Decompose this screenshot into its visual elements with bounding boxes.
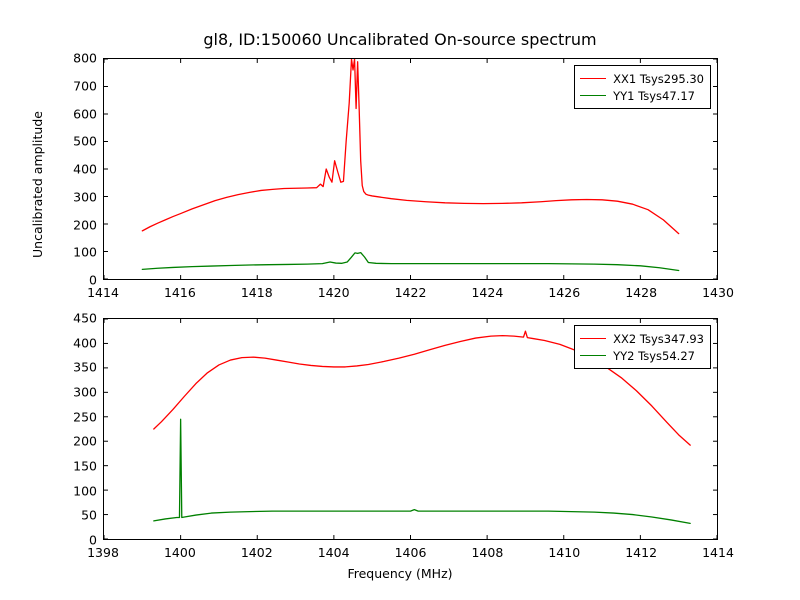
y-tick-label: 500 — [41, 134, 97, 149]
y-tick-label: 300 — [41, 385, 97, 400]
x-tick-label: 1408 — [471, 545, 503, 560]
data-series-line — [154, 419, 690, 523]
x-tick-label: 1420 — [318, 285, 350, 300]
x-tick-label: 1404 — [318, 545, 350, 560]
x-tick-label: 1424 — [471, 285, 503, 300]
bottom-panel-axes: XX2 Tsys347.93 YY2 Tsys54.27 — [103, 318, 718, 540]
x-tick-label: 1428 — [625, 285, 657, 300]
x-tick-label: 1418 — [241, 285, 273, 300]
data-series-line — [142, 253, 678, 271]
legend-swatch-yy2 — [580, 355, 606, 356]
y-tick-label: 400 — [41, 335, 97, 350]
legend-swatch-xx1 — [580, 78, 606, 79]
y-tick-label: 700 — [41, 78, 97, 93]
x-tick-label: 1412 — [625, 545, 657, 560]
x-tick-label: 1400 — [164, 545, 196, 560]
y-tick-label: 250 — [41, 409, 97, 424]
y-tick-label: 150 — [41, 459, 97, 474]
x-tick-label: 1402 — [241, 545, 273, 560]
x-tick-label: 1406 — [395, 545, 427, 560]
legend-item-xx1: XX1 Tsys295.30 — [580, 70, 704, 87]
figure-canvas: gl8, ID:150060 Uncalibrated On-source sp… — [0, 0, 800, 600]
y-tick-label: 450 — [41, 311, 97, 326]
x-axis-label-bottom: Frequency (MHz) — [0, 566, 800, 581]
y-tick-label: 800 — [41, 51, 97, 66]
legend-bottom: XX2 Tsys347.93 YY2 Tsys54.27 — [574, 325, 711, 369]
x-tick-label: 1414 — [702, 545, 734, 560]
y-tick-label: 50 — [41, 508, 97, 523]
top-panel-axes: XX1 Tsys295.30 YY1 Tsys47.17 — [103, 58, 718, 280]
x-tick-label: 1430 — [702, 285, 734, 300]
y-tick-label: 400 — [41, 162, 97, 177]
page-title: gl8, ID:150060 Uncalibrated On-source sp… — [0, 30, 800, 49]
y-tick-label: 300 — [41, 189, 97, 204]
legend-item-xx2: XX2 Tsys347.93 — [580, 330, 704, 347]
legend-label-yy2: YY2 Tsys54.27 — [613, 349, 695, 363]
y-tick-label: 600 — [41, 106, 97, 121]
legend-label-yy1: YY1 Tsys47.17 — [613, 89, 695, 103]
x-tick-label: 1410 — [548, 545, 580, 560]
legend-top: XX1 Tsys295.30 YY1 Tsys47.17 — [574, 65, 711, 109]
x-tick-label: 1422 — [395, 285, 427, 300]
x-tick-label: 1414 — [87, 285, 119, 300]
legend-swatch-yy1 — [580, 95, 606, 96]
x-tick-label: 1426 — [548, 285, 580, 300]
y-tick-label: 200 — [41, 217, 97, 232]
legend-label-xx1: XX1 Tsys295.30 — [613, 72, 704, 86]
legend-swatch-xx2 — [580, 338, 606, 339]
x-tick-label: 1398 — [87, 545, 119, 560]
legend-label-xx2: XX2 Tsys347.93 — [613, 332, 704, 346]
y-tick-label: 100 — [41, 483, 97, 498]
y-tick-label: 100 — [41, 245, 97, 260]
y-tick-label: 350 — [41, 360, 97, 375]
x-tick-label: 1416 — [164, 285, 196, 300]
y-tick-label: 200 — [41, 434, 97, 449]
legend-item-yy1: YY1 Tsys47.17 — [580, 87, 704, 104]
legend-item-yy2: YY2 Tsys54.27 — [580, 347, 704, 364]
